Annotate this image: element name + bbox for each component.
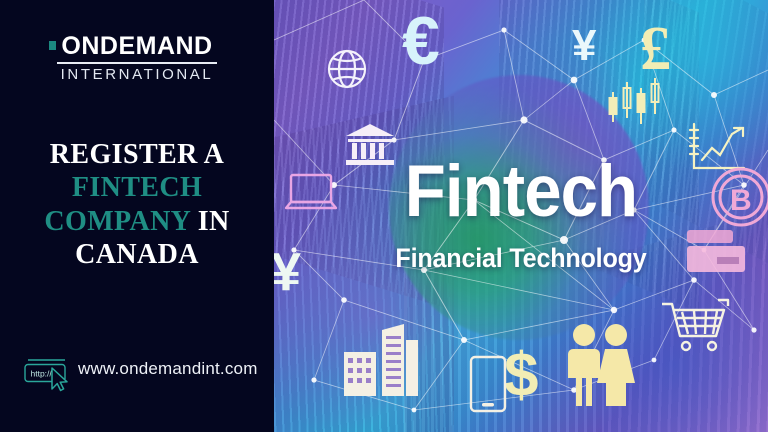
headline-line-2: FINTECH: [72, 172, 202, 203]
poster-banner: ONDEMAND INTERNATIONAL REGISTER A FINTEC…: [0, 0, 768, 432]
website-footer[interactable]: http:// www.ondemandint.com: [24, 352, 274, 396]
office-buildings-icon: [342, 322, 432, 398]
headline-line-4: CANADA: [75, 239, 199, 270]
yen-symbol-icon: ¥: [572, 24, 596, 68]
headline-line-3-rest: IN: [198, 206, 230, 237]
hero-image: € ¥ £ ¥ $: [274, 0, 768, 432]
headline-line-3-accent: COMPANY: [44, 206, 190, 237]
logo-wordmark: ONDEMAND: [61, 34, 212, 59]
logo-accent-mark: [49, 41, 56, 50]
dollar-symbol-icon: $: [504, 345, 538, 407]
hero-wordmark: Fintech: [294, 155, 748, 228]
headline-line-1: REGISTER A: [50, 139, 224, 170]
globe-icon: [322, 44, 372, 94]
people-icon: [560, 322, 638, 408]
shopping-cart-icon: [660, 298, 732, 354]
euro-symbol-icon: €: [402, 7, 440, 75]
smartphone-icon: [468, 355, 508, 413]
svg-text:http://: http://: [31, 369, 53, 379]
page-title: REGISTER A FINTECH COMPANY IN CANADA: [0, 138, 274, 271]
left-info-panel: ONDEMAND INTERNATIONAL REGISTER A FINTEC…: [0, 0, 274, 432]
hero-wordmark-subtitle: Financial Technology: [291, 245, 750, 272]
candlestick-chart-icon: [606, 78, 668, 130]
website-url[interactable]: www.ondemandint.com: [78, 359, 258, 379]
brand-logo[interactable]: ONDEMAND INTERNATIONAL: [0, 34, 274, 82]
pound-symbol-icon: £: [640, 18, 671, 80]
browser-address-bar-icon: http://: [24, 356, 80, 392]
logo-subtitle: INTERNATIONAL: [0, 67, 274, 82]
logo-divider: [57, 62, 217, 64]
